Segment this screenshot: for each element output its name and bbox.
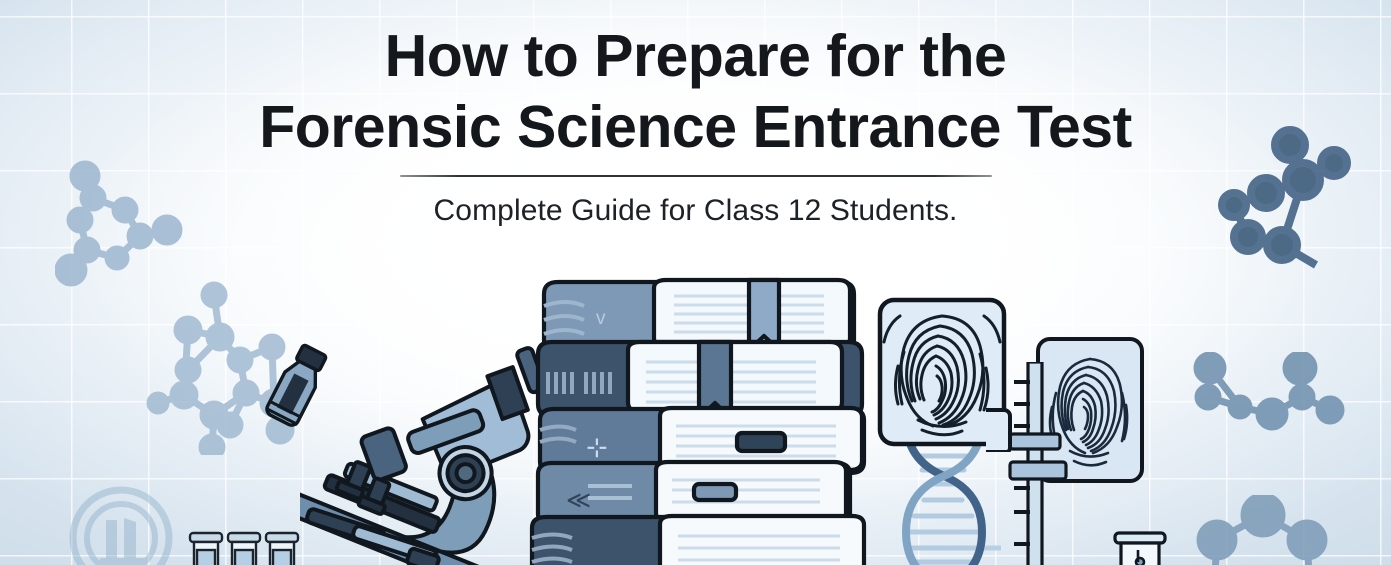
svg-text:v: v — [596, 308, 606, 329]
forensic-badge-emblem-icon — [66, 480, 181, 565]
beaker-icon — [1112, 530, 1168, 565]
svg-text:⊹: ⊹ — [586, 432, 608, 462]
headline-block: How to Prepare for the Forensic Science … — [0, 0, 1391, 228]
svg-text:≪: ≪ — [566, 487, 591, 514]
title-line-2: Forensic Science Entrance Test — [0, 98, 1391, 157]
title-line-1: How to Prepare for the — [0, 27, 1391, 86]
measuring-ruler-icon — [1008, 362, 1070, 565]
subtitle-text: Complete Guide for Class 12 Students. — [0, 194, 1391, 228]
card-corner-flap-icon — [984, 406, 1012, 452]
title-divider-rule — [400, 175, 992, 177]
molecule-chain-right-lower-icon — [1195, 495, 1375, 565]
test-tube-rack-icon — [186, 528, 304, 565]
molecule-chain-right-icon — [1180, 352, 1355, 457]
book-stack-icon: v ⊹ ≪ — [524, 276, 884, 565]
banner-graphic: v ⊹ ≪ — [0, 0, 1391, 565]
